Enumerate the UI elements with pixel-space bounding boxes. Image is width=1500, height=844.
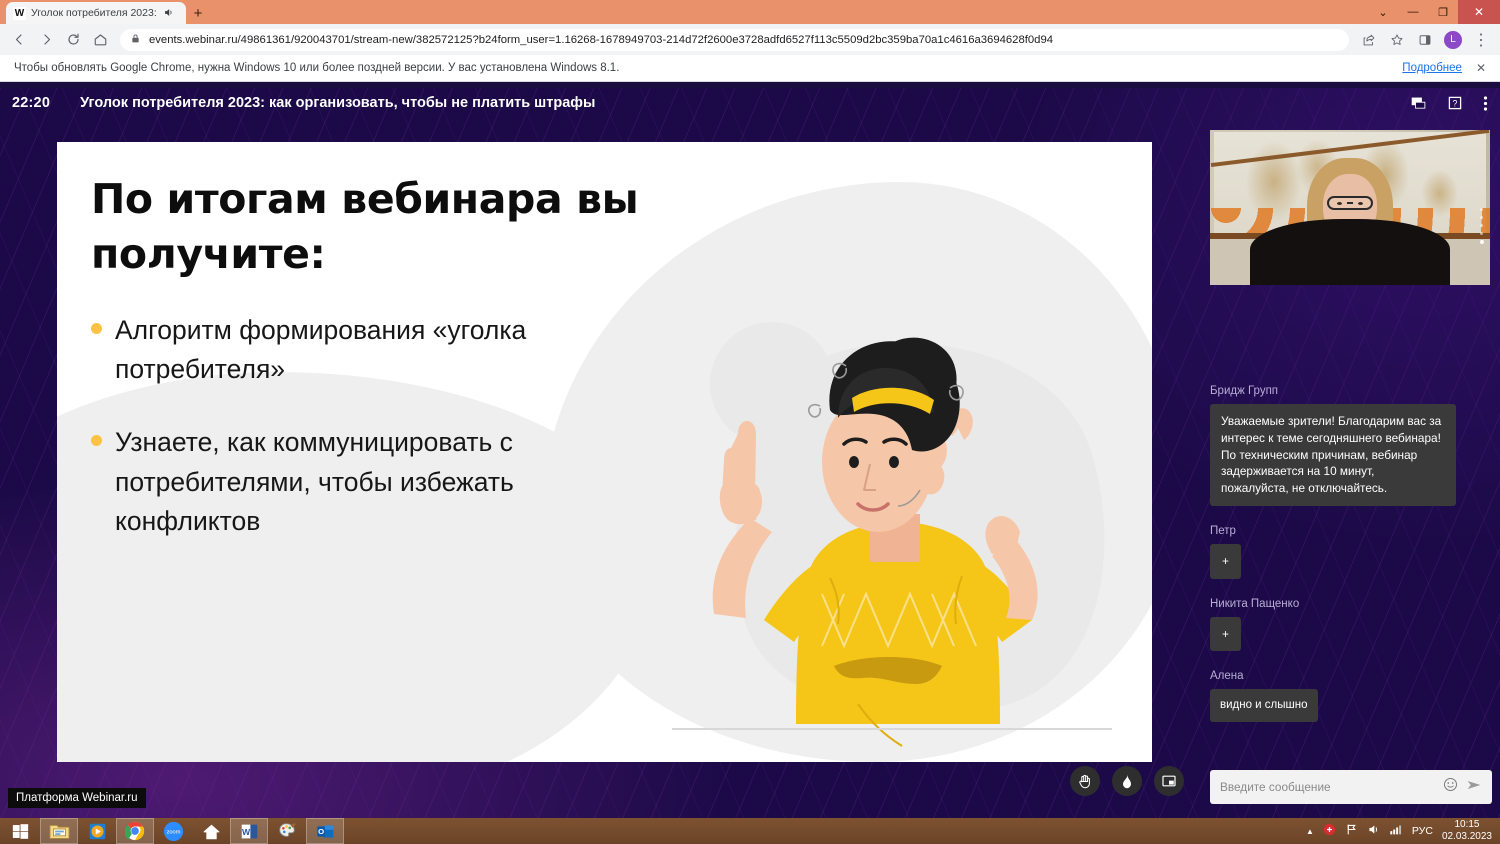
illustration-ground-line (672, 728, 1112, 730)
send-icon[interactable] (1466, 778, 1482, 797)
network-icon[interactable] (1389, 823, 1403, 839)
chat-composer[interactable]: Введите сообщение (1210, 770, 1492, 804)
chat-message: Никита Пащенко + (1210, 598, 1492, 671)
speaker-icon[interactable] (163, 7, 174, 20)
chat-bubble: Уважаемые зрители! Благодарим вас за инт… (1210, 404, 1456, 506)
bullet-dot-icon (91, 323, 102, 334)
tab-strip: W Уголок потребителя 2023: к close-icon … (0, 0, 210, 24)
chat-message: Бридж Групп Уважаемые зрители! Благодари… (1210, 385, 1492, 525)
raise-hand-button[interactable] (1070, 766, 1100, 796)
maximize-button[interactable]: ❐ (1428, 0, 1458, 24)
tab-title: Уголок потребителя 2023: к (31, 7, 158, 19)
svg-text:W: W (241, 826, 250, 836)
slide: По итогам вебинара вы получите: Алгоритм… (57, 142, 1152, 762)
address-bar[interactable]: events.webinar.ru/49861361/920043701/str… (120, 29, 1349, 51)
share-icon[interactable] (1356, 27, 1382, 53)
webinar-app: 22:20 Уголок потребителя 2023: как орган… (0, 88, 1500, 818)
bullet-text: Узнаете, как коммуницировать с потребите… (115, 423, 661, 541)
show-hidden-icons[interactable]: ▲ (1306, 827, 1314, 836)
slide-title: По итогам вебинара вы получите: (91, 172, 651, 281)
url-text: events.webinar.ru/49861361/920043701/str… (149, 34, 1053, 46)
svg-text:zoom: zoom (166, 829, 180, 835)
webinar-clock: 22:20 (12, 95, 50, 111)
clock[interactable]: 10:15 02.03.2023 (1442, 819, 1492, 844)
side-panel-icon[interactable] (1412, 27, 1438, 53)
right-sidebar: Бридж Групп Уважаемые зрители! Благодари… (1200, 130, 1500, 818)
window-controls: ⌄ — ❐ ✕ (1368, 0, 1500, 24)
clock-time: 10:15 (1442, 819, 1492, 832)
taskbar-item-file-explorer[interactable] (40, 818, 78, 844)
presenter-video[interactable] (1210, 130, 1490, 285)
language-indicator[interactable]: РУС (1412, 825, 1433, 837)
list-item: Узнаете, как коммуницировать с потребите… (91, 423, 661, 541)
stage-controls (1070, 766, 1184, 796)
browser-menu-icon[interactable]: ⋮ (1468, 27, 1494, 53)
emoji-icon[interactable] (1443, 777, 1458, 797)
presenter-eye-left (1337, 202, 1342, 205)
volume-icon[interactable] (1367, 823, 1380, 839)
chat-message: Петр + (1210, 525, 1492, 598)
presentation-stage[interactable]: По итогам вебинара вы получите: Алгоритм… (57, 142, 1152, 762)
presenter-eye-right (1358, 202, 1363, 205)
browser-window: W Уголок потребителя 2023: к close-icon … (0, 0, 1500, 844)
help-icon[interactable]: ? (1447, 95, 1463, 111)
video-quality-indicator (1480, 208, 1484, 244)
infobar-close-icon[interactable]: ✕ (1476, 61, 1486, 75)
browser-titlebar: W Уголок потребителя 2023: к close-icon … (0, 0, 1500, 24)
chat-author: Алена (1210, 670, 1492, 682)
infobar-learn-more-link[interactable]: Подробнее (1402, 62, 1462, 74)
flag-icon[interactable] (1345, 823, 1358, 839)
home-icon[interactable] (87, 27, 113, 53)
profile-avatar[interactable]: L (1444, 31, 1462, 49)
taskbar-item-microsoft-outlook[interactable]: O (306, 818, 344, 844)
browser-toolbar: events.webinar.ru/49861361/920043701/str… (0, 24, 1500, 55)
forward-icon[interactable] (33, 27, 59, 53)
chat-message: Алена видно и слышно (1210, 670, 1492, 740)
list-item: Алгоритм формирования «уголка потребител… (91, 311, 661, 389)
security-icon[interactable] (1323, 823, 1336, 839)
picture-in-picture-button[interactable] (1154, 766, 1184, 796)
toolbar-right-actions: L ⋮ (1356, 27, 1494, 53)
bullet-text: Алгоритм формирования «уголка потребител… (115, 311, 661, 389)
lock-icon (130, 33, 141, 47)
update-infobar: Чтобы обновлять Google Chrome, нужна Win… (0, 55, 1500, 82)
taskbar-item-zoom[interactable]: zoom (154, 818, 192, 844)
chat-author: Петр (1210, 525, 1492, 537)
start-button[interactable] (0, 818, 40, 844)
infobar-message: Чтобы обновлять Google Chrome, нужна Win… (14, 62, 619, 74)
tab-favicon: W (13, 7, 26, 20)
reload-icon[interactable] (60, 27, 86, 53)
chat-message-list[interactable]: Бридж Групп Уважаемые зрители! Благодари… (1210, 385, 1492, 741)
new-tab-button[interactable]: + (186, 2, 210, 24)
windows-taskbar: zoom W O ▲ РУС (0, 818, 1500, 844)
chat-author: Бридж Групп (1210, 385, 1492, 397)
presenter-glasses (1327, 196, 1373, 210)
back-icon[interactable] (6, 27, 32, 53)
header-icons: ? (1410, 95, 1488, 112)
slide-bullets: Алгоритм формирования «уголка потребител… (91, 311, 661, 541)
taskbar-tooltip: Платформа Webinar.ru (8, 788, 146, 808)
webinar-header: 22:20 Уголок потребителя 2023: как орган… (0, 88, 1500, 118)
taskbar-item-home-app[interactable] (192, 818, 230, 844)
chat-bubble: + (1210, 617, 1241, 652)
star-icon[interactable] (1384, 27, 1410, 53)
clock-date: 02.03.2023 (1442, 831, 1492, 844)
minimize-button[interactable]: — (1398, 0, 1428, 24)
taskbar-item-microsoft-word[interactable]: W (230, 818, 268, 844)
system-tray: ▲ РУС 10:15 02.03.2023 (1306, 819, 1500, 844)
more-vertical-icon[interactable] (1483, 95, 1488, 112)
taskbar-item-paint[interactable] (268, 818, 306, 844)
chat-bubble: видно и слышно (1210, 689, 1318, 721)
svg-text:O: O (318, 827, 324, 836)
bullet-dot-icon (91, 435, 102, 446)
reaction-fire-button[interactable] (1112, 766, 1142, 796)
chat-bubble: + (1210, 544, 1241, 579)
chat-input[interactable]: Введите сообщение (1220, 780, 1435, 794)
slide-illustration (662, 314, 1132, 754)
chat-icon[interactable] (1410, 95, 1427, 112)
webinar-title: Уголок потребителя 2023: как организоват… (80, 95, 595, 111)
presenter-torso (1250, 219, 1450, 285)
close-window-button[interactable]: ✕ (1458, 0, 1500, 24)
taskbar-item-media-player[interactable] (78, 818, 116, 844)
svg-text:?: ? (1453, 99, 1458, 109)
chat-author: Никита Пащенко (1210, 598, 1492, 610)
browser-tab[interactable]: W Уголок потребителя 2023: к close-icon (6, 2, 186, 24)
taskbar-item-google-chrome[interactable] (116, 818, 154, 844)
tab-search-icon[interactable]: ⌄ (1368, 0, 1398, 24)
